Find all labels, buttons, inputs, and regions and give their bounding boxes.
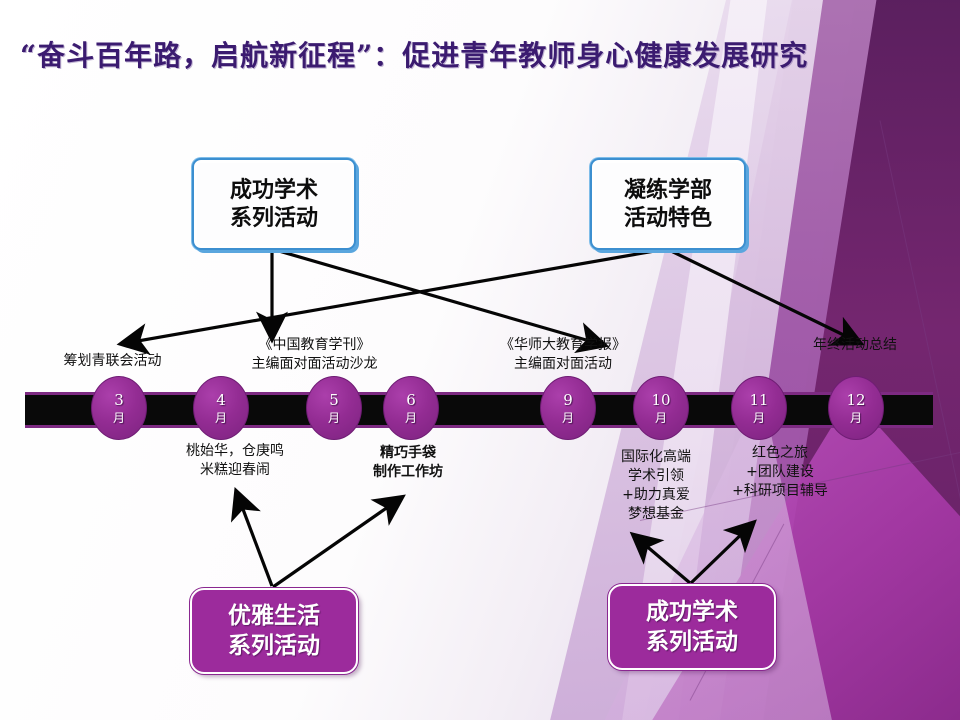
timeline-node-10[interactable]: 10 月 <box>633 376 689 440</box>
callout-elegant-life-label: 优雅生活 系列活动 <box>228 601 320 661</box>
timeline-node-6-unit: 月 <box>405 411 417 425</box>
timeline-node-11-unit: 月 <box>753 411 765 425</box>
arrow-elegant-to-april <box>238 496 272 586</box>
callout-department-feature-label: 凝练学部 活动特色 <box>624 176 712 232</box>
timeline-node-4-number: 4 <box>216 392 226 408</box>
label-plan-youth-union: 筹划青联会活动 <box>30 352 195 371</box>
callout-success-academic-2-label: 成功学术 系列活动 <box>646 597 738 657</box>
callout-department-feature[interactable]: 凝练学部 活动特色 <box>590 158 746 250</box>
callout-success-academic-2[interactable]: 成功学术 系列活动 <box>608 584 776 670</box>
label-peach-blossom: 桃始华，仓庚鸣 米糕迎春闹 <box>150 442 320 480</box>
timeline-node-6-number: 6 <box>406 392 416 408</box>
timeline-node-10-unit: 月 <box>655 411 667 425</box>
label-red-journey: 红色之旅 +团队建设 +科研项目辅导 <box>700 444 860 501</box>
timeline-node-9[interactable]: 9 月 <box>540 376 596 440</box>
timeline-bar <box>25 392 933 428</box>
timeline-node-5-unit: 月 <box>328 411 340 425</box>
label-year-end-summary: 年终活动总结 <box>780 336 930 355</box>
timeline-node-12-unit: 月 <box>850 411 862 425</box>
timeline-node-5-number: 5 <box>329 392 339 408</box>
arrow-feature-to-left <box>126 249 666 343</box>
timeline-node-3-number: 3 <box>114 392 124 408</box>
timeline-node-3-unit: 月 <box>113 411 125 425</box>
arrow-success-to-september <box>272 249 600 344</box>
timeline-node-4-unit: 月 <box>215 411 227 425</box>
timeline-node-11[interactable]: 11 月 <box>731 376 787 440</box>
timeline-node-5[interactable]: 5 月 <box>306 376 362 440</box>
label-ecnu-edu-journal: 《华师大教育学报》 主编面对面活动 <box>468 336 658 374</box>
page-title: “奋斗百年路，启航新征程”：促进青年教师身心健康发展研究 <box>20 36 900 76</box>
timeline-node-3[interactable]: 3 月 <box>91 376 147 440</box>
timeline-node-6[interactable]: 6 月 <box>383 376 439 440</box>
callout-success-academic[interactable]: 成功学术 系列活动 <box>192 158 356 250</box>
callout-success-academic-label: 成功学术 系列活动 <box>230 176 318 232</box>
arrow-elegant-to-june <box>273 500 398 587</box>
timeline-node-9-number: 9 <box>563 392 573 408</box>
timeline-node-12-number: 12 <box>846 392 865 408</box>
timeline-node-10-number: 10 <box>651 392 670 408</box>
timeline-node-9-unit: 月 <box>562 411 574 425</box>
timeline-node-4[interactable]: 4 月 <box>193 376 249 440</box>
label-handbag-workshop: 精巧手袋 制作工作坊 <box>338 444 478 482</box>
callout-elegant-life[interactable]: 优雅生活 系列活动 <box>190 588 358 674</box>
slide-canvas: “奋斗百年路，启航新征程”：促进青年教师身心健康发展研究 成功学术 系列活动 凝… <box>0 0 960 720</box>
timeline-node-12[interactable]: 12 月 <box>828 376 884 440</box>
label-china-edu-journal: 《中国教育学刊》 主编面对面活动沙龙 <box>222 336 407 374</box>
timeline-node-11-number: 11 <box>749 392 768 408</box>
